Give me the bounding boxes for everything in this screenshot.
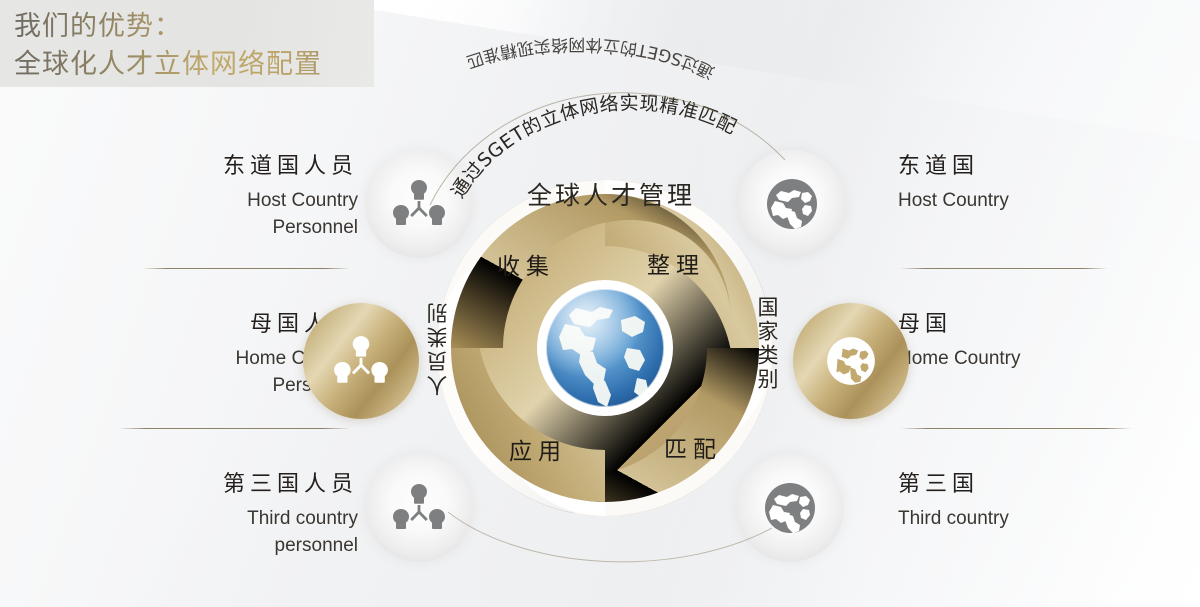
node-third-country-personnel-icon[interactable]: [365, 454, 473, 562]
label-home-country: 母国 Home Country: [898, 310, 1128, 372]
label-third-country-personnel-en1: Third country: [128, 505, 358, 532]
quadrant-label-organize: 整理: [647, 246, 705, 280]
page-title-line-2: 全球化人才立体网络配置: [14, 46, 374, 84]
node-host-country-icon[interactable]: [738, 150, 846, 258]
right-label-column: 东道国 Host Country 母国 Home Country 第三国 Thi…: [898, 0, 1128, 607]
left-label-column: 东道国人员 Host Country Personnel 母国人员 Home C…: [128, 0, 358, 607]
people-icon: [331, 334, 391, 388]
label-host-country-cn: 东道国: [898, 152, 1128, 182]
page-title-line-1: 我们的优势：: [14, 8, 374, 46]
node-third-country-icon[interactable]: [736, 454, 844, 562]
globe-icon: [823, 333, 879, 389]
node-home-country-icon[interactable]: [793, 303, 909, 419]
globe-icon: [763, 481, 817, 535]
slide-canvas: 我们的优势： 全球化人才立体网络配置: [0, 0, 1200, 607]
quadrant-label-collect: 收集: [497, 247, 555, 281]
label-third-country-personnel-cn: 第三国人员: [128, 470, 358, 500]
node-home-country-personnel-icon[interactable]: [303, 303, 419, 419]
label-host-country-personnel-cn: 东道国人员: [128, 152, 358, 182]
label-host-country-en1: Host Country: [898, 187, 1128, 214]
center-heading: 全球人才管理: [527, 176, 695, 212]
label-third-country-en1: Third country: [898, 505, 1128, 532]
label-third-country-personnel-en2: personnel: [128, 532, 358, 559]
people-icon: [390, 482, 448, 534]
label-host-country-personnel-en1: Host Country: [128, 187, 358, 214]
label-host-country: 东道国 Host Country: [898, 152, 1128, 214]
axis-label-country-category: 国家类别: [752, 296, 782, 392]
globe-icon: [765, 177, 819, 231]
people-icon: [390, 178, 448, 230]
label-third-country-cn: 第三国: [898, 470, 1128, 500]
label-third-country: 第三国 Third country: [898, 470, 1128, 532]
label-host-country-personnel-en2: Personnel: [128, 214, 358, 241]
label-home-country-cn: 母国: [898, 310, 1128, 340]
label-third-country-personnel: 第三国人员 Third country personnel: [128, 470, 358, 559]
node-host-country-personnel-icon[interactable]: [365, 150, 473, 258]
label-home-country-en1: Home Country: [898, 345, 1128, 372]
quadrant-label-apply: 应用: [509, 432, 567, 466]
axis-label-personnel-category: 人员类别: [423, 300, 453, 396]
label-host-country-personnel: 东道国人员 Host Country Personnel: [128, 152, 358, 241]
quadrant-label-match: 匹配: [664, 430, 722, 464]
title-band: 我们的优势： 全球化人才立体网络配置: [0, 0, 374, 87]
